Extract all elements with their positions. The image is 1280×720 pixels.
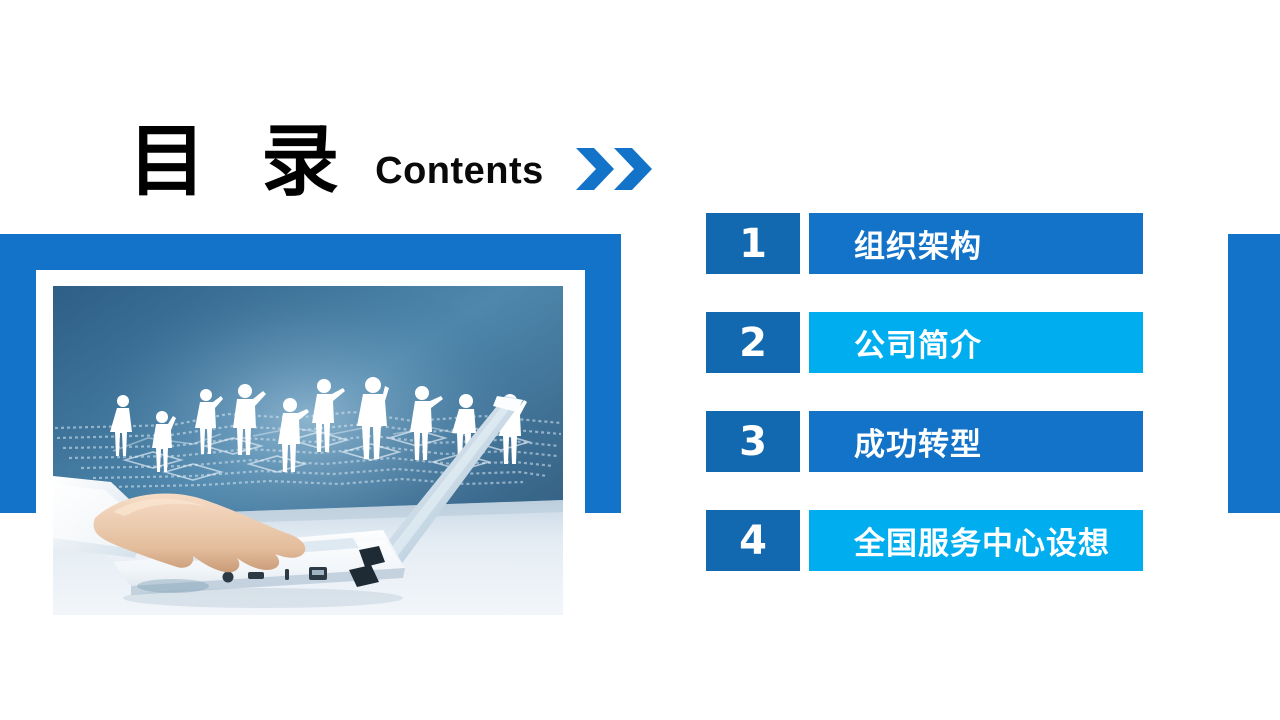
contents-item-1[interactable]: 1 组织架构 xyxy=(706,213,1143,274)
contents-item-3[interactable]: 3 成功转型 xyxy=(706,411,1143,472)
contents-list: 1 组织架构 2 公司简介 3 成功转型 4 全国服务中心设想 xyxy=(706,213,1143,571)
page-title-cn: 目 录 xyxy=(128,125,353,200)
frame-top-bar xyxy=(0,234,621,270)
contents-item-label: 成功转型 xyxy=(809,411,1143,472)
frame-right-bar xyxy=(585,234,621,513)
contents-item-4[interactable]: 4 全国服务中心设想 xyxy=(706,510,1143,571)
contents-item-label: 组织架构 xyxy=(809,213,1143,274)
contents-item-2[interactable]: 2 公司简介 xyxy=(706,312,1143,373)
double-chevron-right-icon xyxy=(576,148,652,200)
right-edge-accent-bar xyxy=(1228,234,1280,513)
contents-item-number: 3 xyxy=(706,411,800,472)
laptop-photo xyxy=(53,286,563,615)
contents-item-number: 1 xyxy=(706,213,800,274)
contents-item-number: 2 xyxy=(706,312,800,373)
frame-left-bar xyxy=(0,234,36,513)
page-title-en: Contents xyxy=(375,150,544,200)
slide-title-block: 目 录 Contents xyxy=(128,100,652,200)
contents-item-number: 4 xyxy=(706,510,800,571)
contents-item-label: 公司简介 xyxy=(809,312,1143,373)
contents-item-label: 全国服务中心设想 xyxy=(809,510,1143,571)
